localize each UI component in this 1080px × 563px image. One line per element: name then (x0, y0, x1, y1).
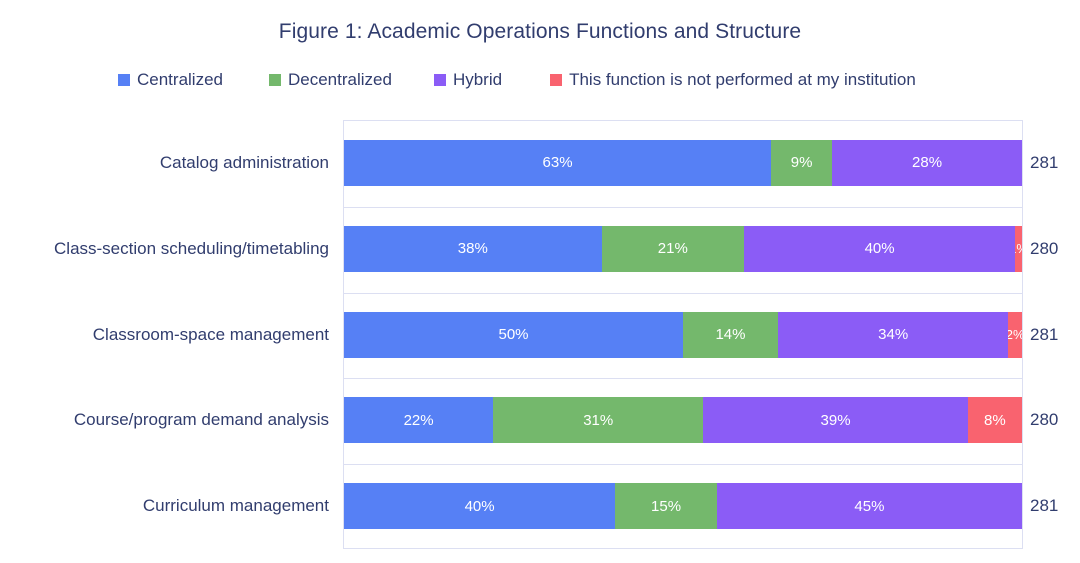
legend-swatch-icon (434, 74, 446, 86)
bar-segment[interactable]: 1% (1015, 226, 1022, 272)
legend-label: This function is not performed at my ins… (569, 70, 916, 90)
bar-segment[interactable]: 15% (615, 483, 717, 529)
category-axis-label: Class-section scheduling/timetabling (0, 239, 329, 259)
chart-row: Catalog administration63%9%28%281 (0, 140, 1080, 186)
bar-segment[interactable]: 45% (717, 483, 1022, 529)
bar-segment-value-label: 1% (1015, 241, 1022, 256)
row-total-label: 281 (1030, 153, 1074, 173)
bar-segment-value-label: 45% (854, 498, 884, 515)
bar-segment-value-label: 40% (465, 498, 495, 515)
chart-row: Class-section scheduling/timetabling38%2… (0, 226, 1080, 272)
gridline (344, 207, 1022, 208)
bar-segment-value-label: 34% (878, 326, 908, 343)
bar-segment-value-label: 21% (658, 240, 688, 257)
stacked-bar: 50%14%34%2% (344, 312, 1022, 358)
bar-segment[interactable]: 28% (832, 140, 1022, 186)
bar-segment-value-label: 40% (865, 240, 895, 257)
bar-segment-value-label: 8% (984, 412, 1006, 429)
legend-swatch-icon (269, 74, 281, 86)
bar-segment-value-label: 9% (791, 154, 813, 171)
bar-segment-value-label: 39% (821, 412, 851, 429)
bar-segment[interactable]: 63% (344, 140, 771, 186)
bar-segment-value-label: 28% (912, 154, 942, 171)
bar-segment[interactable]: 8% (968, 397, 1022, 443)
chart-row: Curriculum management40%15%45%281 (0, 483, 1080, 529)
legend-item[interactable]: Centralized (118, 70, 223, 90)
row-total-label: 280 (1030, 410, 1074, 430)
chart-container: Figure 1: Academic Operations Functions … (0, 0, 1080, 563)
legend-item[interactable]: This function is not performed at my ins… (550, 70, 916, 90)
bar-segment-value-label: 50% (498, 326, 528, 343)
bar-segment-value-label: 22% (404, 412, 434, 429)
category-axis-label: Curriculum management (0, 496, 329, 516)
legend-swatch-icon (550, 74, 562, 86)
bar-segment-value-label: 31% (583, 412, 613, 429)
category-axis-label: Classroom-space management (0, 325, 329, 345)
legend-label: Decentralized (288, 70, 392, 90)
bar-segment-value-label: 38% (458, 240, 488, 257)
bar-segment[interactable]: 40% (344, 483, 615, 529)
bar-segment[interactable]: 9% (771, 140, 832, 186)
row-total-label: 280 (1030, 239, 1074, 259)
gridline (344, 378, 1022, 379)
bar-segment[interactable]: 34% (778, 312, 1009, 358)
bar-segment[interactable]: 31% (493, 397, 703, 443)
legend-item[interactable]: Decentralized (269, 70, 392, 90)
gridline (344, 464, 1022, 465)
bar-segment[interactable]: 40% (744, 226, 1015, 272)
stacked-bar: 63%9%28% (344, 140, 1022, 186)
stacked-bar: 40%15%45% (344, 483, 1022, 529)
stacked-bar: 22%31%39%8% (344, 397, 1022, 443)
chart-row: Classroom-space management50%14%34%2%281 (0, 312, 1080, 358)
bar-segment-value-label: 14% (715, 326, 745, 343)
bar-segment-value-label: 2% (1008, 327, 1022, 342)
category-axis-label: Catalog administration (0, 153, 329, 173)
bar-segment-value-label: 63% (543, 154, 573, 171)
legend-swatch-icon (118, 74, 130, 86)
row-total-label: 281 (1030, 496, 1074, 516)
bar-segment[interactable]: 50% (344, 312, 683, 358)
bar-segment[interactable]: 21% (602, 226, 744, 272)
stacked-bar: 38%21%40%1% (344, 226, 1022, 272)
row-total-label: 281 (1030, 325, 1074, 345)
gridline (344, 293, 1022, 294)
bar-segment-value-label: 15% (651, 498, 681, 515)
chart-title: Figure 1: Academic Operations Functions … (0, 20, 1080, 44)
legend-item[interactable]: Hybrid (434, 70, 502, 90)
bar-segment[interactable]: 22% (344, 397, 493, 443)
legend-label: Hybrid (453, 70, 502, 90)
legend-label: Centralized (137, 70, 223, 90)
category-axis-label: Course/program demand analysis (0, 410, 329, 430)
bar-segment[interactable]: 14% (683, 312, 778, 358)
bar-segment[interactable]: 39% (703, 397, 967, 443)
chart-row: Course/program demand analysis22%31%39%8… (0, 397, 1080, 443)
bar-segment[interactable]: 38% (344, 226, 602, 272)
bar-segment[interactable]: 2% (1008, 312, 1022, 358)
chart-legend: CentralizedDecentralizedHybridThis funct… (118, 70, 988, 90)
